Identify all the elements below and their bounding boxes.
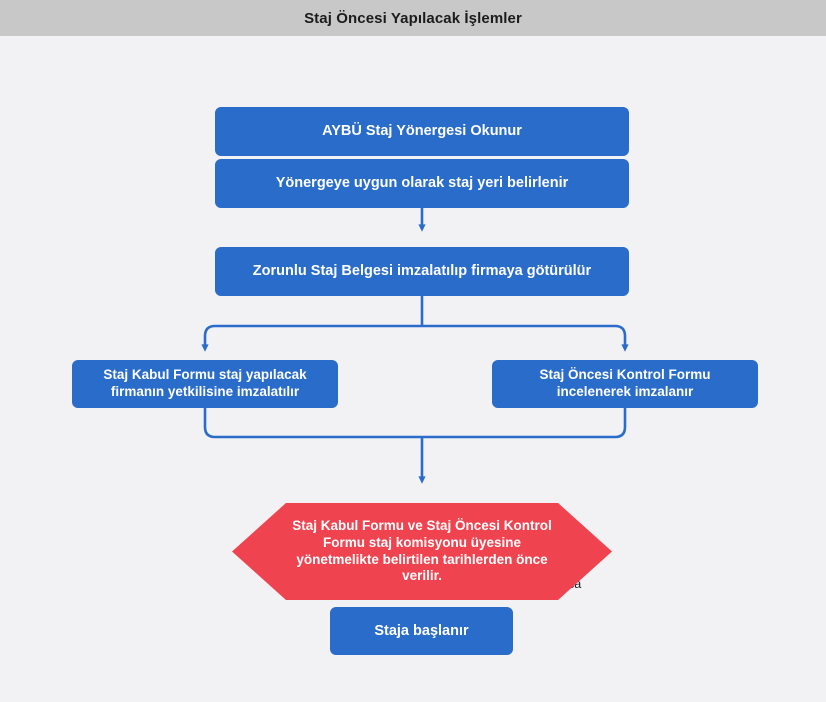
edge-n5-n6: [422, 408, 625, 437]
node-label: Staj Öncesi Kontrol Formu incelenerek im…: [503, 367, 747, 401]
node-label: Yönergeye uygun olarak staj yeri belirle…: [276, 174, 569, 192]
node-label: Staj Kabul Formu ve Staj Öncesi Kontrol …: [288, 518, 556, 586]
node-formlar-komisyona-verilir[interactable]: Staj Kabul Formu ve Staj Öncesi Kontrol …: [232, 503, 612, 600]
node-staj-oncesi-kontrol-formu[interactable]: Staj Öncesi Kontrol Formu incelenerek im…: [492, 360, 758, 408]
edge-n3-n5: [422, 326, 625, 348]
node-staja-baslanir[interactable]: Staja başlanır: [330, 607, 513, 655]
flowchart-app: Staj Öncesi Yapılacak İşlemler: [0, 0, 826, 702]
node-aybu-staj-yonergesi[interactable]: AYBÜ Staj Yönergesi Okunur: [215, 107, 629, 156]
node-staj-kabul-formu-imzalatilir[interactable]: Staj Kabul Formu staj yapılacak firmanın…: [72, 360, 338, 408]
window-titlebar: Staj Öncesi Yapılacak İşlemler: [0, 0, 826, 36]
node-label: Staj Kabul Formu staj yapılacak firmanın…: [83, 367, 327, 401]
diagram-canvas: AYBÜ Staj Yönergesi Okunur Yönergeye uyg…: [0, 36, 826, 702]
node-label: AYBÜ Staj Yönergesi Okunur: [322, 122, 522, 140]
edge-n3-n4: [205, 326, 422, 348]
node-label: Zorunlu Staj Belgesi imzalatılıp firmaya…: [253, 262, 591, 280]
node-staj-yeri-belirlenir[interactable]: Yönergeye uygun olarak staj yeri belirle…: [215, 159, 629, 208]
edge-n4-n6: [205, 408, 422, 437]
page-title: Staj Öncesi Yapılacak İşlemler: [304, 10, 522, 27]
node-label: Staja başlanır: [374, 622, 468, 640]
node-zorunlu-staj-belgesi[interactable]: Zorunlu Staj Belgesi imzalatılıp firmaya…: [215, 247, 629, 296]
